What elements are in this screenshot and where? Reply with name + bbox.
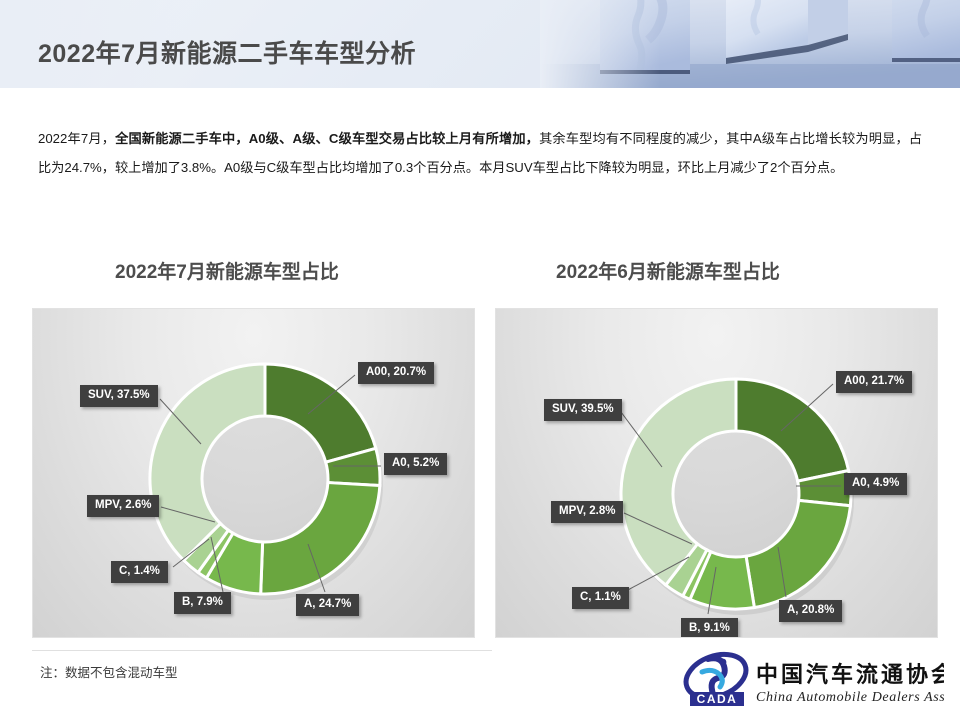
data-label-a00: A00, 21.7%: [836, 371, 912, 393]
logo-abbr-text: CADA: [697, 692, 738, 706]
donut-chart-june: A00, 21.7%A0, 4.9%A, 20.8%B, 9.1%C, 1.1%…: [495, 308, 938, 638]
donut-chart-july: A00, 20.7%A0, 5.2%A, 24.7%B, 7.9%C, 1.4%…: [32, 308, 475, 638]
data-label-a: A, 24.7%: [296, 594, 359, 616]
data-label-a00: A00, 20.7%: [358, 362, 434, 384]
data-label-suv: SUV, 39.5%: [544, 399, 622, 421]
data-label-c: C, 1.1%: [572, 587, 629, 609]
data-label-mpv: MPV, 2.8%: [551, 501, 623, 523]
data-label-a0: A0, 4.9%: [844, 473, 907, 495]
data-label-a0: A0, 5.2%: [384, 453, 447, 475]
summary-paragraph: 2022年7月，全国新能源二手车中，A0级、A级、C级车型交易占比较上月有所增加…: [38, 124, 922, 182]
paragraph-segment-1: 2022年7月，: [38, 131, 115, 146]
data-label-b: B, 7.9%: [174, 592, 231, 614]
data-label-b: B, 9.1%: [681, 618, 738, 638]
logo-english-text: China Automobile Dealers Association: [756, 690, 944, 705]
data-label-mpv: MPV, 2.6%: [87, 495, 159, 517]
data-label-suv: SUV, 37.5%: [80, 385, 158, 407]
data-label-c: C, 1.4%: [111, 561, 168, 583]
slide-header: 2022年7月新能源二手车车型分析: [0, 0, 960, 88]
chart-title-left: 2022年7月新能源车型占比: [115, 257, 339, 284]
page-title: 2022年7月新能源二手车车型分析: [38, 34, 416, 70]
paragraph-bold-highlight: 全国新能源二手车中，A0级、A级、C级车型交易占比较上月有所增加，: [115, 131, 539, 146]
cada-logo: CADA 中国汽车流通协会 China Automobile Dealers A…: [682, 650, 944, 712]
header-decorative-cubes-image: [540, 0, 960, 88]
slide-page: 2022年7月新能源二手车车型分析 2022年7月，全国新能源二手车中，A0级、…: [0, 0, 960, 720]
data-label-a: A, 20.8%: [779, 600, 842, 622]
chart-title-right: 2022年6月新能源车型占比: [556, 257, 780, 284]
logo-chinese-text: 中国汽车流通协会: [756, 662, 944, 687]
footer-note: 注：数据不包含混动车型: [40, 662, 178, 681]
footer-divider: [32, 650, 492, 651]
